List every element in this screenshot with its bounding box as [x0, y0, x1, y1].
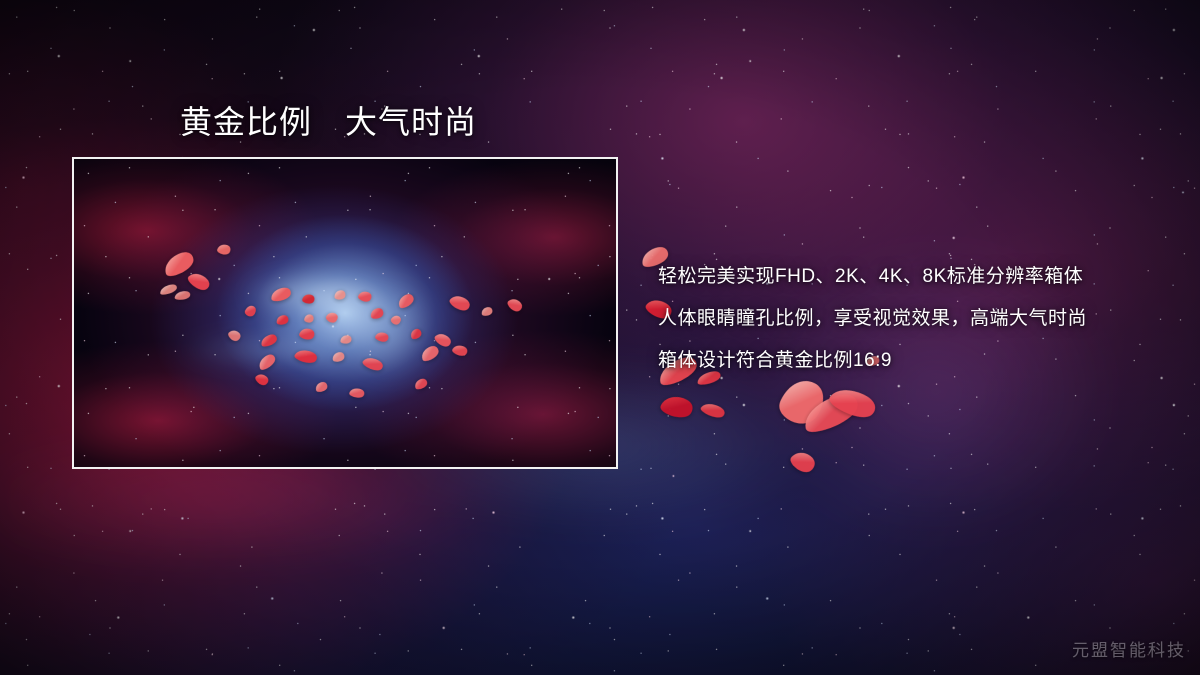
body-line-2: 人体眼睛瞳孔比例，享受视觉效果，高端大气时尚	[658, 298, 1178, 340]
framed-image	[72, 157, 618, 469]
body-line-3: 箱体设计符合黄金比例16:9	[658, 340, 1178, 382]
body-copy: 轻松完美实现FHD、2K、4K、8K标准分辨率箱体 人体眼睛瞳孔比例，享受视觉效…	[658, 256, 1178, 382]
rose-petal-icon	[797, 387, 866, 440]
presentation-slide: 黄金比例 大气时尚 轻松完美实现FHD、2K、4K、8K标准分辨率箱体 人体眼睛…	[0, 0, 1200, 675]
rose-petal-icon	[787, 446, 820, 477]
watermark: 元盟智能科技	[1072, 636, 1186, 661]
inset-starfield-icon	[74, 159, 616, 467]
rose-petal-icon	[699, 400, 728, 421]
rose-petal-icon	[658, 392, 696, 422]
framed-image-content	[74, 159, 616, 467]
rose-petal-icon	[825, 382, 881, 425]
slide-title: 黄金比例 大气时尚	[180, 102, 477, 142]
body-line-1: 轻松完美实现FHD、2K、4K、8K标准分辨率箱体	[658, 256, 1178, 298]
